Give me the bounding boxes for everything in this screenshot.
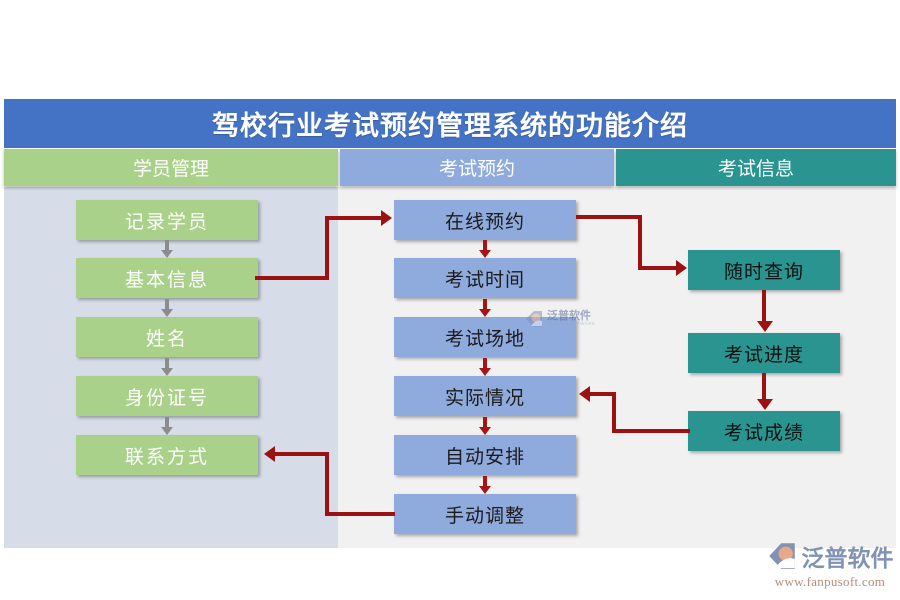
brand-url: www.fanpusoft.com (775, 574, 885, 590)
node-label: 姓名 (146, 324, 188, 351)
connector-line (638, 215, 642, 269)
connector-line (255, 276, 329, 280)
connector-arrowhead-left (264, 446, 275, 462)
connector-arrowhead-right (676, 260, 687, 276)
node-label: 实际情况 (445, 383, 525, 410)
node-label: 考试进度 (724, 340, 804, 367)
watermark-text: 泛普软件 FANPU SOFTWARE (547, 311, 596, 327)
connector-arrowhead-left (579, 386, 590, 402)
column-header-student-management[interactable]: 学员管理 (4, 149, 338, 186)
node-label: 考试场地 (445, 324, 525, 351)
brand-logo: 泛普软件 www.fanpusoft.com (766, 538, 894, 590)
page-title: 驾校行业考试预约管理系统的功能介绍 (212, 104, 688, 143)
node-manual-adjust[interactable]: 手动调整 (394, 494, 576, 534)
connector-line (612, 429, 690, 433)
connector-line (325, 216, 329, 280)
connector-arrowhead-down (757, 399, 773, 410)
node-label: 自动安排 (445, 442, 525, 469)
node-exam-time[interactable]: 考试时间 (394, 258, 576, 298)
brand-name: 泛普软件 (802, 539, 894, 573)
column-header-label: 学员管理 (133, 154, 209, 181)
node-exam-score[interactable]: 考试成绩 (688, 411, 840, 451)
connector-line (275, 452, 329, 456)
watermark-subtitle: FANPU SOFTWARE (547, 322, 596, 327)
connector-line (612, 392, 616, 433)
watermark-logo: 泛普软件 FANPU SOFTWARE (524, 306, 612, 332)
node-label: 基本信息 (125, 265, 209, 292)
node-label: 在线预约 (445, 207, 525, 234)
connector-line (762, 290, 766, 323)
page-title-bar: 驾校行业考试预约管理系统的功能介绍 (4, 99, 896, 148)
connector-arrowhead-down (757, 321, 773, 332)
connector-line (325, 216, 383, 220)
node-online-booking[interactable]: 在线预约 (394, 200, 576, 240)
node-label: 考试成绩 (724, 418, 804, 445)
connector-arrowhead-right (381, 210, 392, 226)
node-label: 身份证号 (125, 383, 209, 410)
connector-line (325, 512, 395, 516)
node-basic-info[interactable]: 基本信息 (76, 258, 258, 298)
node-name[interactable]: 姓名 (76, 317, 258, 357)
node-query-anytime[interactable]: 随时查询 (688, 250, 840, 290)
node-id-number[interactable]: 身份证号 (76, 376, 258, 416)
connector-line (576, 215, 642, 219)
column-header-exam-booking[interactable]: 考试预约 (340, 149, 614, 186)
node-exam-progress[interactable]: 考试进度 (688, 333, 840, 373)
node-record-student[interactable]: 记录学员 (76, 200, 258, 240)
node-label: 手动调整 (445, 501, 525, 528)
column-header-label: 考试信息 (718, 154, 794, 181)
brand-row: 泛普软件 (767, 539, 894, 573)
connector-line (638, 266, 678, 270)
connector-line (762, 373, 766, 401)
node-label: 联系方式 (125, 442, 209, 469)
node-contact[interactable]: 联系方式 (76, 435, 258, 475)
flowchart-canvas: 驾校行业考试预约管理系统的功能介绍 学员管理 考试预约 考试信息 记录学员 基本… (0, 0, 900, 600)
connector-line (590, 392, 616, 396)
fanpu-logo-icon (767, 541, 797, 571)
node-label: 考试时间 (445, 265, 525, 292)
column-header-label: 考试预约 (439, 154, 515, 181)
node-label: 记录学员 (125, 207, 209, 234)
connector-line (325, 452, 329, 516)
node-actual-situation[interactable]: 实际情况 (394, 376, 576, 416)
fanpu-logo-icon (524, 309, 544, 329)
node-label: 随时查询 (724, 257, 804, 284)
node-auto-arrange[interactable]: 自动安排 (394, 435, 576, 475)
column-header-exam-info[interactable]: 考试信息 (616, 149, 896, 186)
